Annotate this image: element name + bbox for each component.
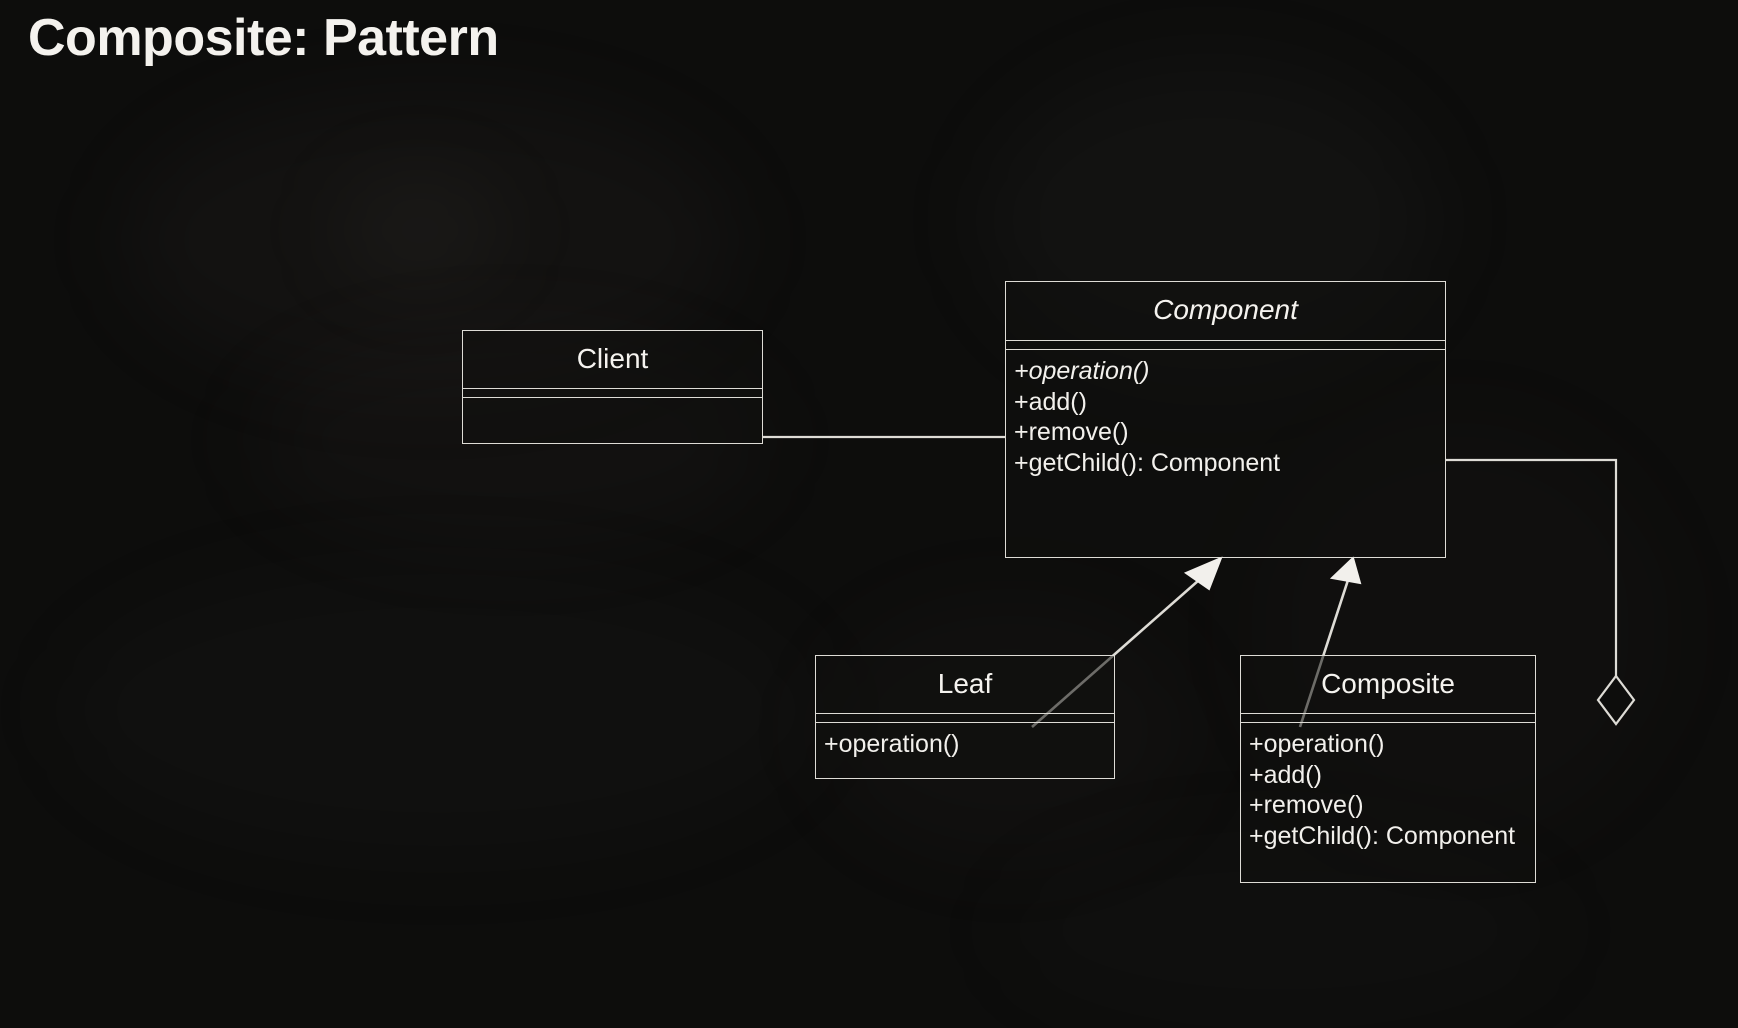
uml-class-composite[interactable]: Composite +operation() +add() +remove() …: [1240, 655, 1536, 883]
uml-class-client-methods-compartment: [463, 398, 762, 410]
background-blur-shape: [60, 560, 820, 860]
uml-class-leaf[interactable]: Leaf +operation(): [815, 655, 1115, 779]
uml-class-component-methods-compartment: +operation() +add() +remove() +getChild(…: [1006, 350, 1445, 484]
uml-class-client-attributes-compartment: [463, 388, 762, 398]
uml-method: +operation(): [1014, 356, 1445, 387]
uml-method: +getChild(): Component: [1249, 821, 1535, 852]
aggregation-diamond-icon: [1598, 676, 1634, 724]
uml-method: +remove(): [1014, 417, 1445, 448]
uml-class-component-attributes-compartment: [1006, 340, 1445, 350]
uml-method: +add(): [1014, 387, 1445, 418]
uml-method: +remove(): [1249, 790, 1535, 821]
background-blur-shape: [330, 170, 510, 290]
generalization-leaf-component-arrowhead: [1186, 558, 1221, 589]
uml-class-composite-name: Composite: [1241, 656, 1535, 713]
uml-class-leaf-attributes-compartment: [816, 713, 1114, 723]
uml-class-composite-attributes-compartment: [1241, 713, 1535, 723]
uml-method: +operation(): [824, 729, 1114, 760]
uml-class-leaf-name: Leaf: [816, 656, 1114, 713]
slide-canvas: Composite: Pattern Client Component +ope…: [0, 0, 1738, 1028]
uml-class-component[interactable]: Component +operation() +add() +remove() …: [1005, 281, 1446, 558]
slide-title: Composite: Pattern: [28, 8, 499, 68]
uml-class-composite-methods-compartment: +operation() +add() +remove() +getChild(…: [1241, 723, 1535, 857]
generalization-composite-component-arrowhead: [1332, 558, 1360, 583]
uml-method: +getChild(): Component: [1014, 448, 1445, 479]
uml-method: +operation(): [1249, 729, 1535, 760]
uml-class-component-name: Component: [1006, 282, 1445, 340]
uml-class-client-name: Client: [463, 331, 762, 388]
uml-class-client[interactable]: Client: [462, 330, 763, 444]
uml-method: +add(): [1249, 760, 1535, 791]
aggregation-component-composite-shaft: [1446, 460, 1616, 679]
uml-class-leaf-methods-compartment: +operation(): [816, 723, 1114, 766]
